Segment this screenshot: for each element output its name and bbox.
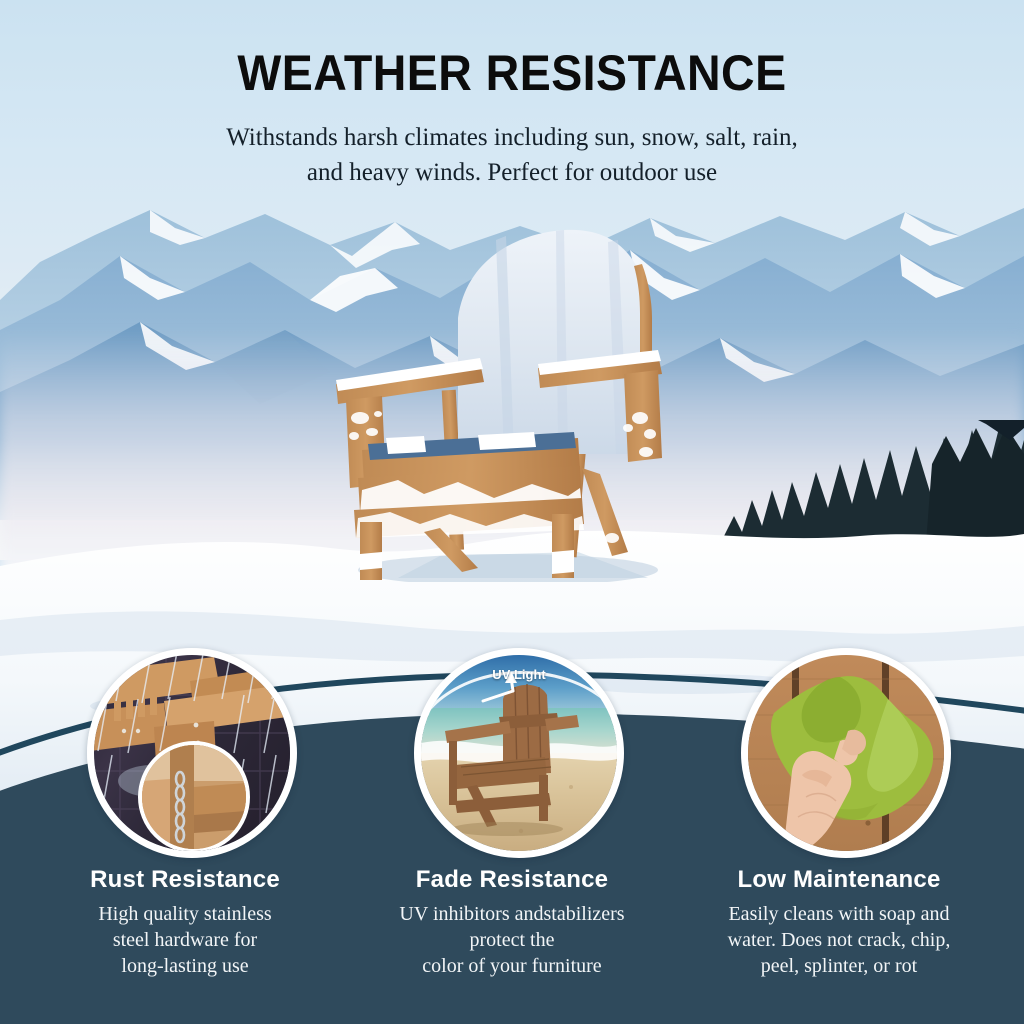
feature-title-fade-resistance: Fade Resistance bbox=[347, 866, 677, 894]
feature-description-low-maintenance: Easily cleans with soap and water. Does … bbox=[674, 901, 1004, 979]
feature-caption-low-maintenance: Low Maintenance Easily cleans with soap … bbox=[674, 866, 1004, 979]
page-title: WEATHER RESISTANCE bbox=[36, 44, 988, 102]
page-subtitle: Withstands harsh climates including sun,… bbox=[0, 120, 1024, 190]
feature-title-rust-resistance: Rust Resistance bbox=[20, 866, 350, 894]
feature-description-rust-resistance: High quality stainless steel hardware fo… bbox=[20, 901, 350, 979]
uv-light-label: UV Light bbox=[421, 667, 617, 682]
feature-caption-fade-resistance: Fade Resistance UV inhibitors andstabili… bbox=[347, 866, 677, 979]
infographic-canvas: WEATHER RESISTANCE Withstands harsh clim… bbox=[0, 0, 1024, 1024]
feature-image-rust-resistance[interactable] bbox=[87, 648, 297, 858]
hero-adirondack-chair bbox=[328, 222, 680, 582]
feature-image-fade-resistance[interactable]: UV Light bbox=[414, 648, 624, 858]
feature-title-low-maintenance: Low Maintenance bbox=[674, 866, 1004, 894]
subtitle-line-2: and heavy winds. Perfect for outdoor use bbox=[0, 155, 1024, 190]
inset-hardware-detail bbox=[138, 741, 250, 853]
feature-caption-rust-resistance: Rust Resistance High quality stainless s… bbox=[20, 866, 350, 979]
subtitle-line-1: Withstands harsh climates including sun,… bbox=[0, 120, 1024, 155]
feature-description-fade-resistance: UV inhibitors andstabilizers protect the… bbox=[347, 901, 677, 979]
feature-image-low-maintenance[interactable] bbox=[741, 648, 951, 858]
